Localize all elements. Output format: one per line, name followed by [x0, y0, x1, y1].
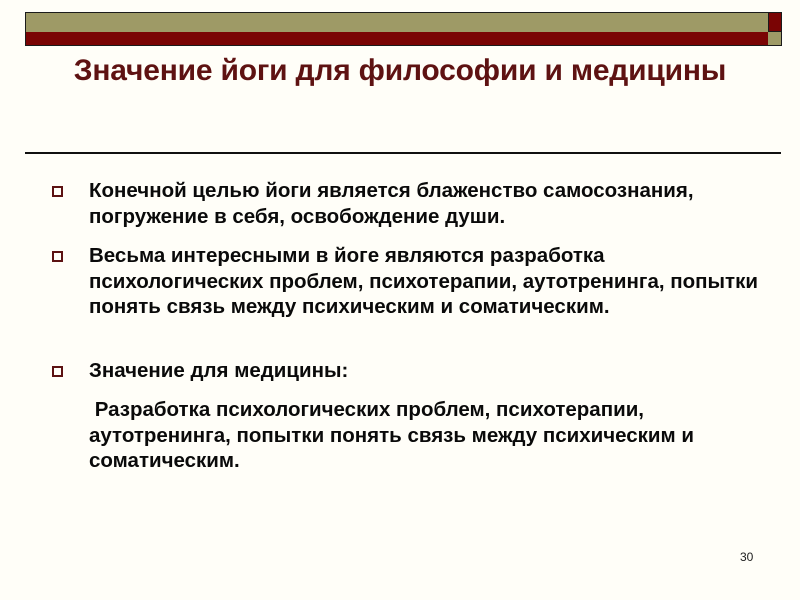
body-spacer [45, 231, 765, 243]
slide-body: Конечной целью йоги является блаженство … [45, 178, 765, 474]
body-spacer [45, 322, 765, 358]
bullet-item: Весьма интересными в йоге являются разра… [45, 243, 765, 320]
olive-header-bar-end-cap [768, 12, 782, 32]
body-spacer [45, 385, 765, 397]
bullet-item: Конечной целью йоги является блаженство … [45, 178, 765, 229]
presentation-slide: Значение йоги для философии и медицины К… [0, 0, 800, 600]
slide-title: Значение йоги для философии и медицины [40, 52, 760, 89]
page-number: 30 [740, 550, 753, 564]
bullet-item-label: Конечной целью йоги является блаженство … [89, 178, 765, 229]
bullet-item: Значение для медицины: [45, 358, 765, 384]
bullet-item-label: Весьма интересными в йоге являются разра… [89, 243, 765, 320]
paragraph-item-label: Разработка психологических проблем, псих… [89, 397, 765, 474]
olive-header-bar [25, 12, 768, 32]
title-divider-rule [25, 152, 781, 154]
red-header-bar [25, 32, 768, 46]
hollow-square-bullet-icon [52, 251, 63, 262]
paragraph-item: Разработка психологических проблем, псих… [45, 397, 765, 474]
hollow-square-bullet-icon [52, 366, 63, 377]
hollow-square-bullet-icon [52, 186, 63, 197]
red-header-bar-end-cap [768, 32, 782, 46]
bullet-item-label: Значение для медицины: [89, 358, 765, 384]
